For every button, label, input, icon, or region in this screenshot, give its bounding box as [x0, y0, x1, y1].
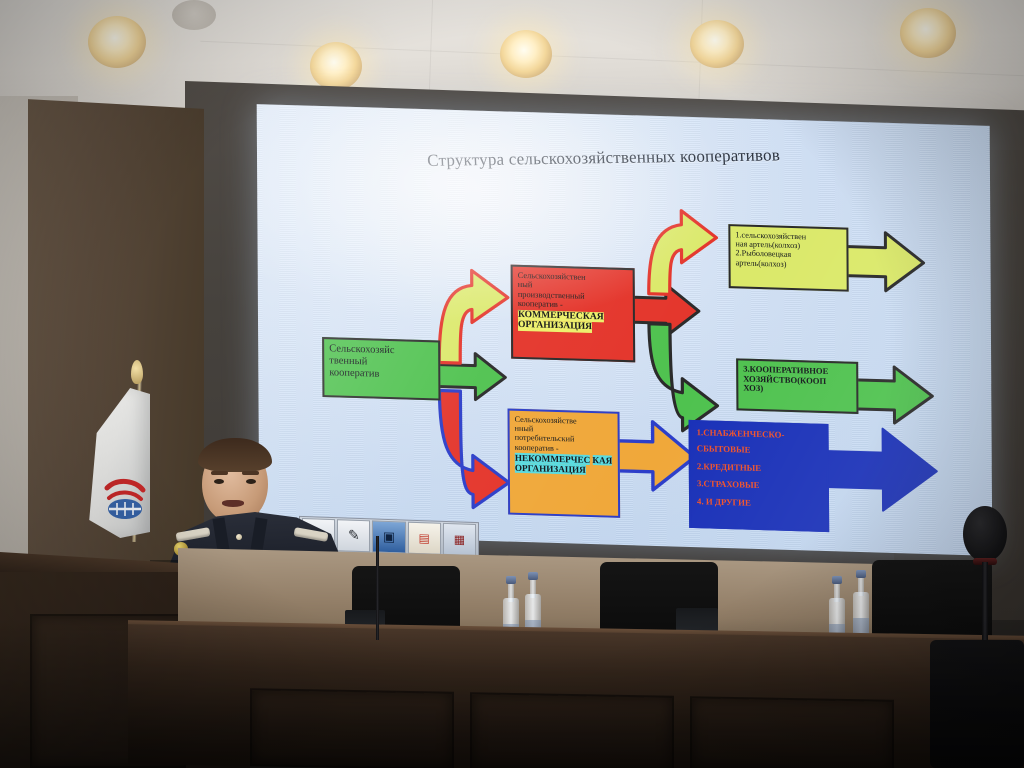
node-line: 2.КРЕДИТНЫЕ: [697, 462, 821, 474]
node-highlight-line: ОРГАНИЗАЦИЯ: [515, 463, 586, 475]
arrow-types-out: [825, 427, 937, 512]
node-consumer: Сельскохозяйстве нный потребительский ко…: [508, 409, 621, 518]
projection-screen: Структура сельскохозяйственных кооперати…: [257, 104, 993, 556]
desk-panel: [470, 692, 674, 768]
arrow-to-artels: [648, 210, 717, 296]
microphone-head-icon: [963, 506, 1007, 562]
ceiling-light: [900, 8, 956, 58]
conference-room-photo: Структура сельскохозяйственных кооперати…: [0, 0, 1024, 768]
node-line: 1.СНАБЖЕНЧЕСКО-: [697, 428, 821, 440]
flag-finial-icon: [131, 360, 143, 384]
speaker-eye: [246, 479, 256, 484]
node-line: 4. И ДРУГИЕ: [697, 497, 821, 509]
ceiling-speaker-icon: [172, 0, 216, 30]
node-line: 3.СТРАХОВЫЕ: [697, 480, 821, 492]
arrow-to-consumer: [439, 391, 509, 509]
speaker-mouth: [222, 500, 244, 507]
ceiling-light: [310, 42, 362, 90]
arrow-coophoz-out: [854, 366, 932, 424]
node-highlight-line: ОРГАНИЗАЦИЯ: [518, 320, 592, 333]
node-line: артель(колхоз): [736, 258, 842, 270]
speaker-brow: [242, 471, 259, 475]
node-coophoz: 3.КООПЕРАТИВНОЕ ХОЗЯЙСТВО(КООП ХОЗ): [736, 358, 858, 414]
arrow-artels-out: [845, 232, 923, 292]
ceiling-light: [690, 20, 744, 68]
arrow-to-production: [439, 269, 509, 364]
microphone-stem: [376, 536, 379, 640]
node-artels: 1.сельскохозяйствен ная артель(колхоз) 2…: [728, 224, 848, 292]
node-line: кооператив: [329, 367, 433, 382]
node-production: Сельскохозяйствен ный производственный к…: [511, 265, 636, 363]
speaker-brow: [211, 471, 228, 475]
speaker-hair: [198, 438, 272, 472]
desk-panel: [690, 696, 894, 768]
speaker-eye: [214, 479, 224, 484]
node-line: СБЫТОВЫЕ: [697, 444, 821, 456]
microphone-base: [930, 640, 1024, 768]
uniform-button: [236, 534, 242, 540]
ceiling-light: [88, 16, 146, 68]
node-line: ХОЗ): [743, 384, 851, 397]
slide-icon[interactable]: ▤: [408, 522, 441, 555]
arrow-to-coophoz: [649, 324, 718, 432]
menu-icon[interactable]: ▦: [443, 523, 476, 556]
flag-emblem-icon: [101, 470, 149, 520]
node-highlight-line: КАЯ: [592, 455, 612, 466]
node-types: 1.СНАБЖЕНЧЕСКО- СБЫТОВЫЕ 2.КРЕДИТНЫЕ 3.С…: [689, 420, 830, 532]
ceiling-light: [500, 30, 552, 78]
desk-panel: [250, 688, 454, 768]
microphone-small: [368, 536, 388, 646]
node-root: Сельскохозяйс твенный кооператив: [322, 337, 440, 401]
